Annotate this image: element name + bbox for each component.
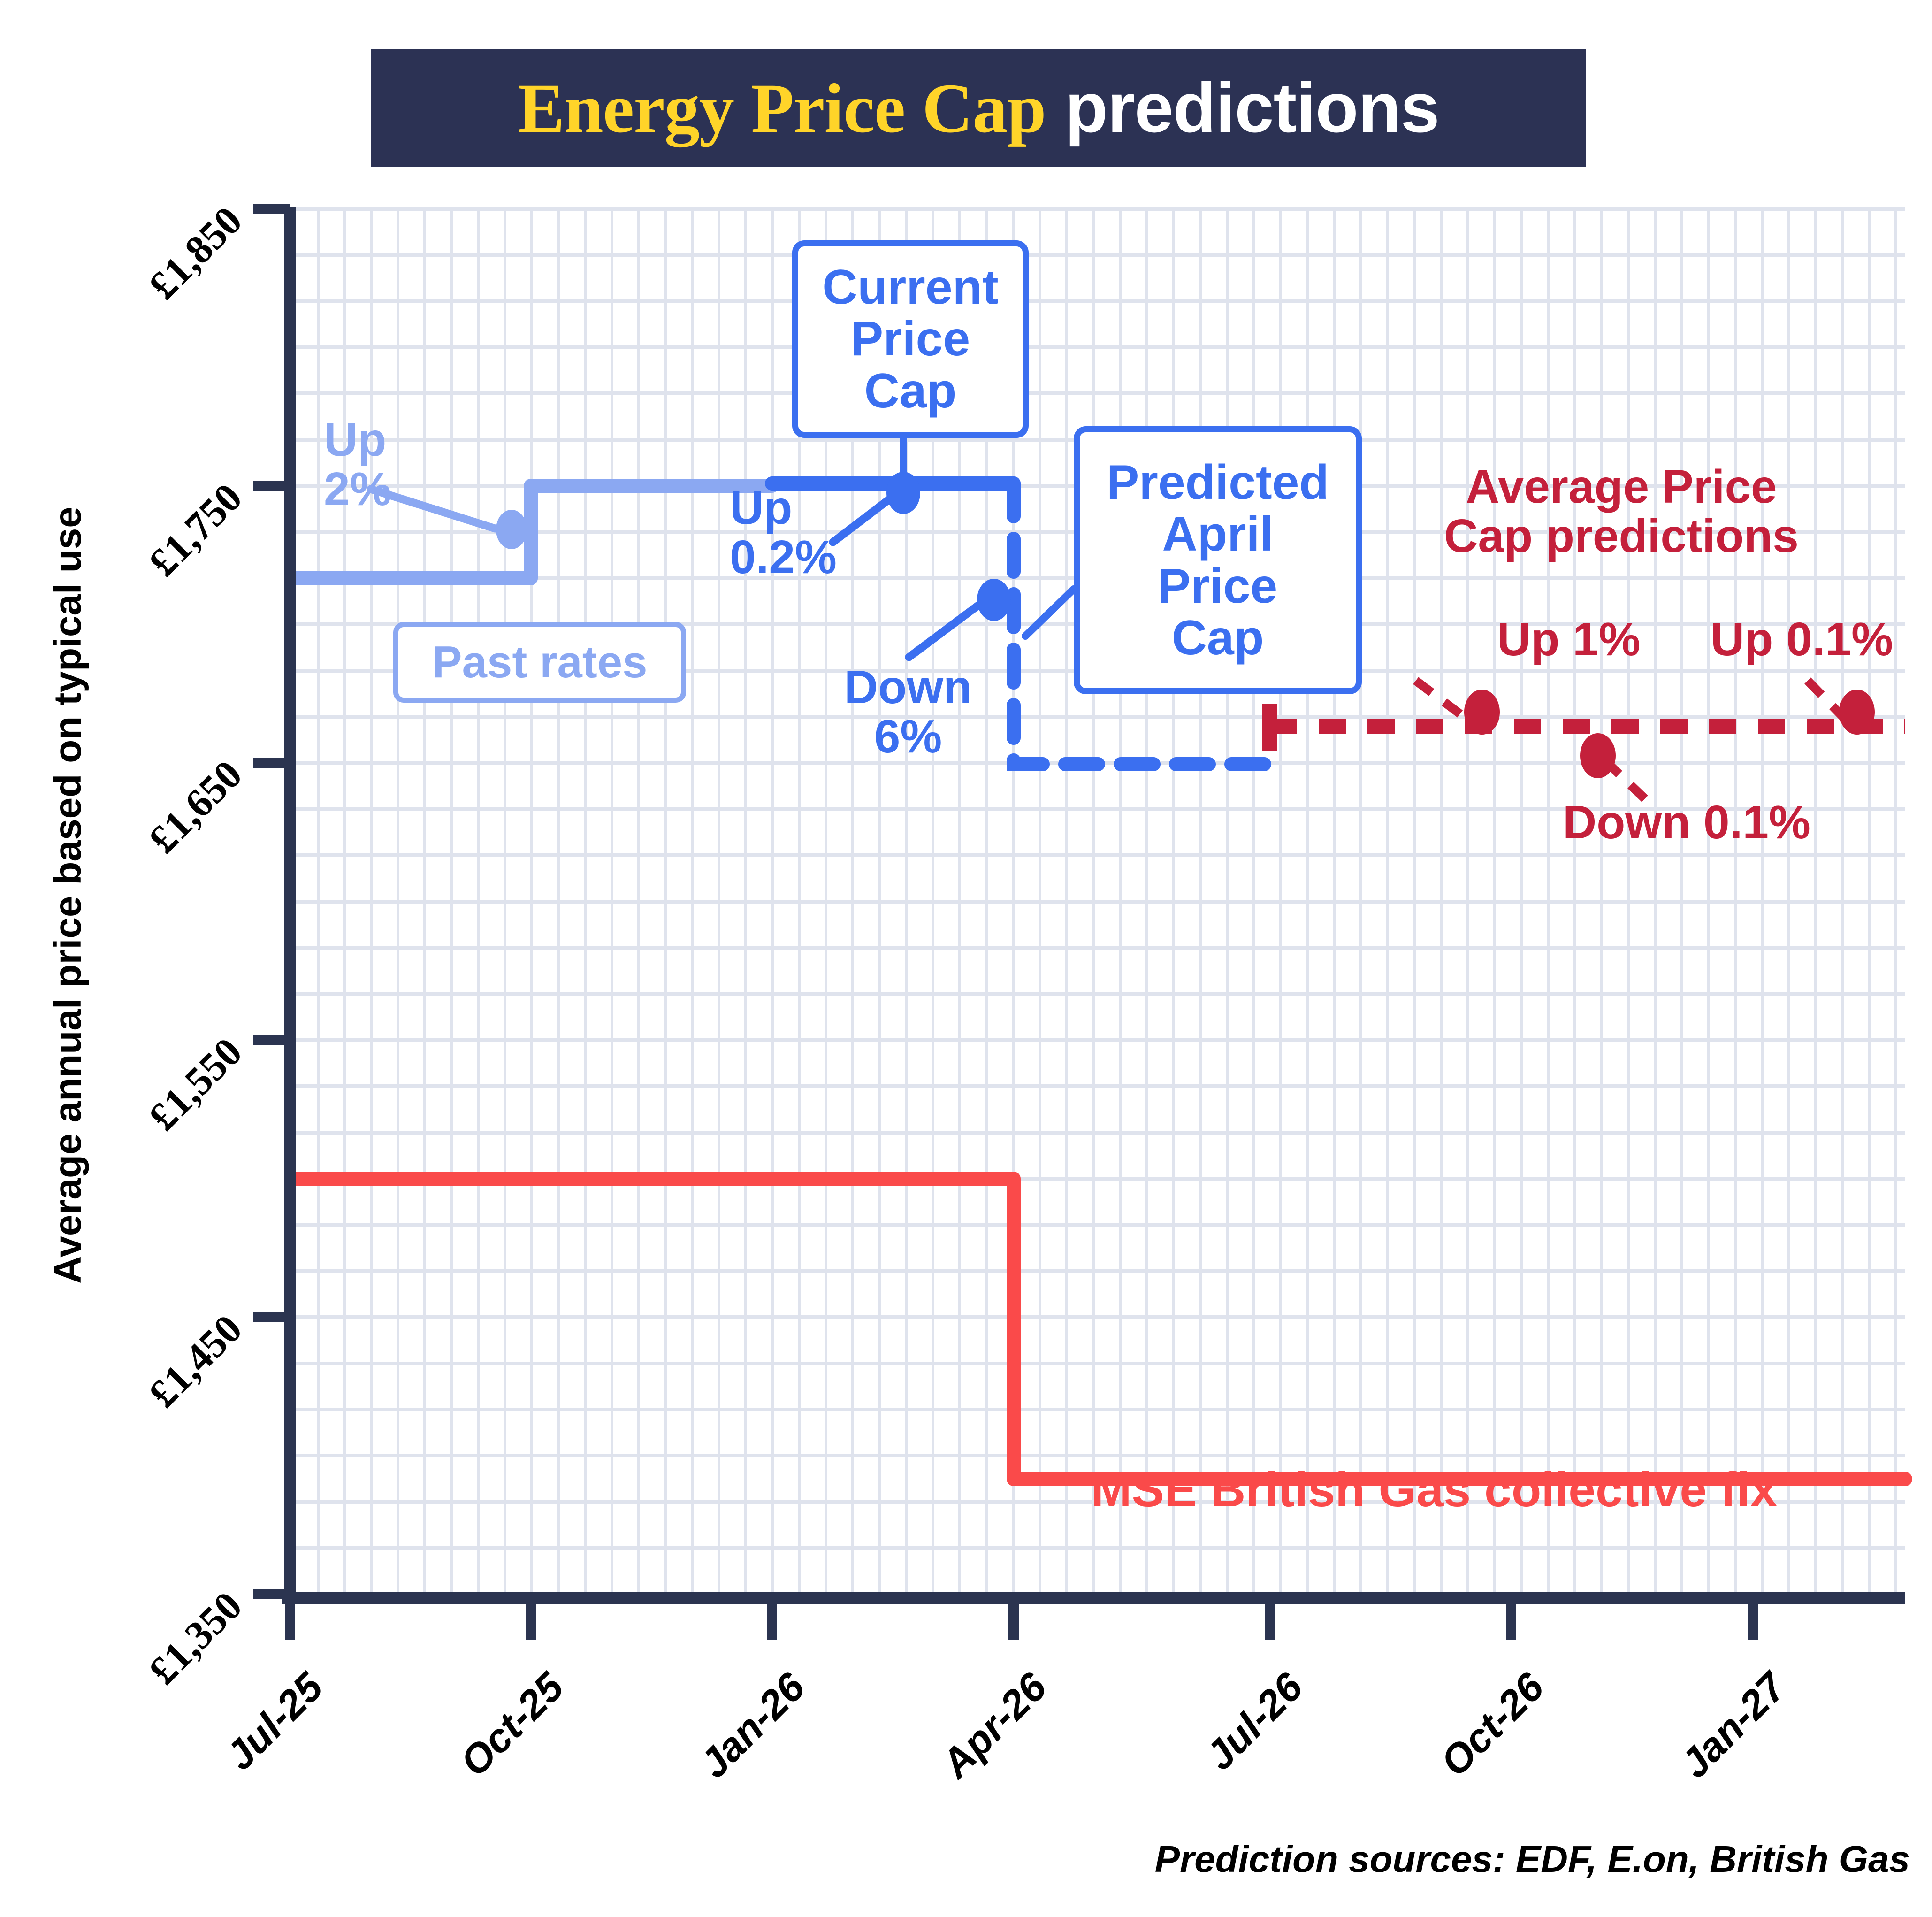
marker-up-2 <box>496 510 527 549</box>
marker-down-6 <box>977 579 1011 621</box>
annotation-up-2: Up 2% <box>324 415 392 514</box>
x-ticks <box>290 1598 1753 1640</box>
leader-down-6 <box>909 606 978 657</box>
marker-up-1 <box>1464 690 1500 735</box>
annotation-down-01: Down 0.1% <box>1563 798 1810 847</box>
annotation-past-rates: Past rates <box>393 622 686 703</box>
footer-sources: Prediction sources: EDF, E.on, British G… <box>1093 1838 1910 1881</box>
annotation-predicted-april-price-cap: Predicted April Price Cap <box>1074 426 1362 694</box>
marker-up-01 <box>1839 690 1875 735</box>
infographic-root: Energy Price Cap predictions <box>0 0 1932 1917</box>
annotation-up-01: Up 0.1% <box>1711 615 1893 664</box>
annotation-mse-fix: MSE British Gas collective fix <box>1091 1465 1777 1516</box>
annotation-down-6: Down 6% <box>840 663 976 761</box>
annotation-current-price-cap: Current Price Cap <box>792 240 1029 438</box>
leader-up-01 <box>1808 681 1843 717</box>
annotation-average-predictions: Average Price Cap predictions <box>1429 462 1814 561</box>
annotation-up-02: Up 0.2% <box>730 483 837 582</box>
marker-down-01 <box>1580 733 1616 778</box>
annotation-up-1: Up 1% <box>1497 615 1641 664</box>
